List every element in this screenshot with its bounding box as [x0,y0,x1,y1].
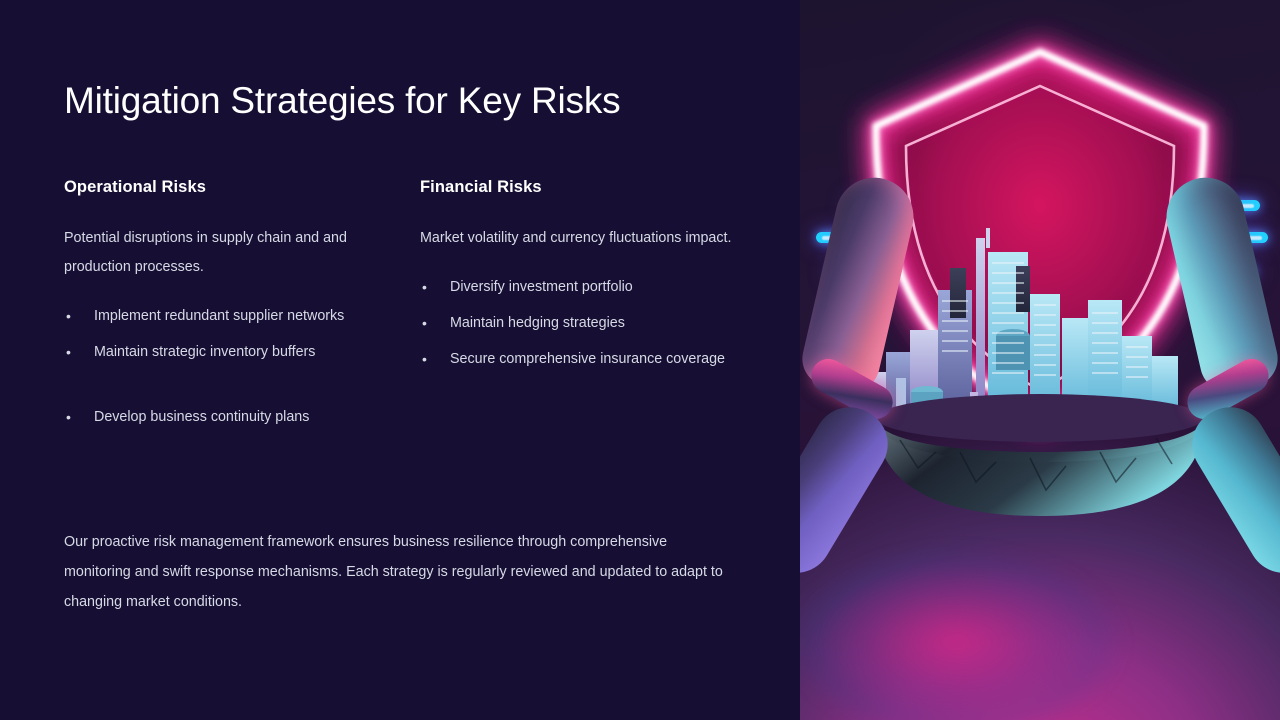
artwork-panel [800,0,1280,720]
page-title: Mitigation Strategies for Key Risks [64,80,620,122]
bullet-marker-icon: • [66,338,71,367]
column-operational-risks: Operational Risks Potential disruptions … [64,178,384,439]
column-intro-operational: Potential disruptions in supply chain an… [64,224,384,282]
column-intro-financial: Market volatility and currency fluctuati… [420,224,740,253]
content-panel: Mitigation Strategies for Key Risks Oper… [0,0,800,720]
list-item: • Secure comprehensive insurance coverag… [420,345,740,374]
list-item: • Diversify investment portfolio [420,273,740,302]
summary-paragraph: Our proactive risk management framework … [64,527,724,617]
column-financial-risks: Financial Risks Market volatility and cu… [420,178,740,381]
bullet-marker-icon: • [422,345,427,374]
bullet-text: Secure comprehensive insurance coverage [450,351,725,367]
bullet-text: Maintain strategic inventory buffers [94,344,315,360]
bullet-text: Develop business continuity plans [94,409,309,425]
list-item: • Implement redundant supplier networks [64,302,384,331]
list-item: • Maintain strategic inventory buffers [64,338,384,367]
floor-glow [800,530,1280,720]
list-item: • Maintain hedging strategies [420,309,740,338]
island-base [876,394,1204,516]
bullet-marker-icon: • [66,403,71,432]
bullet-text: Implement redundant supplier networks [94,308,344,324]
bullet-text: Diversify investment portfolio [450,279,633,295]
column-heading-financial: Financial Risks [420,178,740,197]
column-heading-operational: Operational Risks [64,178,384,197]
bullet-list-operational: • Implement redundant supplier networks … [64,302,384,432]
bullet-list-financial: • Diversify investment portfolio • Maint… [420,273,740,374]
bullet-text: Maintain hedging strategies [450,315,625,331]
list-item: • Develop business continuity plans [64,403,384,432]
bullet-marker-icon: • [66,302,71,331]
bullet-marker-icon: • [422,309,427,338]
bullet-marker-icon: • [422,273,427,302]
slide-root: Mitigation Strategies for Key Risks Oper… [0,0,1280,720]
